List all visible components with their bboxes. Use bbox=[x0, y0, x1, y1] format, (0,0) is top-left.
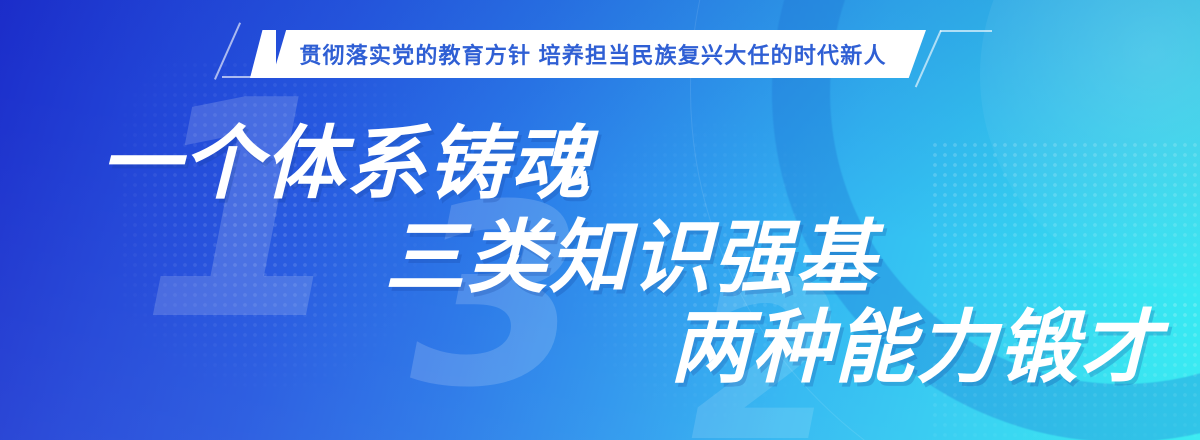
headline-group: 一个体系铸魂 三类知识强基 两种能力锻才 bbox=[0, 0, 1200, 440]
headline-line-2: 三类知识强基 bbox=[385, 218, 877, 298]
education-banner: 1 3 2 贯彻落实党的教育方针 培养担当民族复兴大任的时代新人 一个体系铸魂 … bbox=[0, 0, 1200, 440]
headline-line-3: 两种能力锻才 bbox=[670, 308, 1162, 388]
headline-line-1: 一个体系铸魂 bbox=[100, 124, 592, 204]
